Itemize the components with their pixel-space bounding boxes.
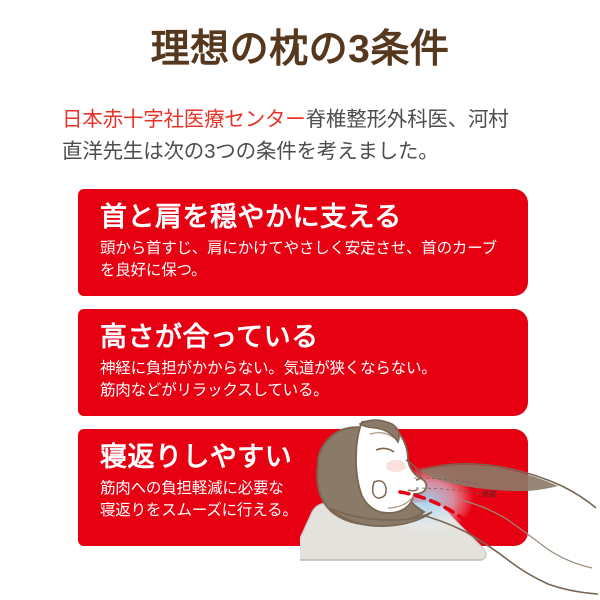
condition-heading: 首と肩を穏やかに支える bbox=[100, 200, 528, 234]
condition-body: 頭から首すじ、肩にかけてやさしく安定させ、首のカーブ を良好に保つ。 bbox=[100, 238, 528, 282]
page-title: 理想の枕の3条件 bbox=[0, 26, 600, 74]
condition-body: 神経に負担がかからない。気道が狭くならない。 筋肉などがリラックスしている。 bbox=[100, 358, 528, 402]
condition-card-3: 寝返りしやすい 筋肉への負担軽減に必要な 寝返りをスムーズに行える。 bbox=[78, 429, 528, 546]
condition-card-1: 首と肩を穏やかに支える 頭から首すじ、肩にかけてやさしく安定させ、首のカーブ を… bbox=[78, 189, 528, 296]
subtitle: 日本赤十字社医療センター脊椎整形外科医、河村直洋先生は次の3つの条件を考えました… bbox=[62, 104, 514, 168]
subtitle-highlight: 日本赤十字社医療センター bbox=[62, 108, 306, 131]
condition-heading: 寝返りしやすい bbox=[100, 440, 528, 474]
poster-root: 理想の枕の3条件 日本赤十字社医療センター脊椎整形外科医、河村直洋先生は次の3つ… bbox=[0, 0, 600, 600]
condition-body: 筋肉への負担軽減に必要な 寝返りをスムーズに行える。 bbox=[100, 478, 350, 522]
condition-heading: 高さが合っている bbox=[100, 320, 528, 354]
condition-card-2: 高さが合っている 神経に負担がかからない。気道が狭くならない。 筋肉などがリラッ… bbox=[78, 309, 528, 416]
